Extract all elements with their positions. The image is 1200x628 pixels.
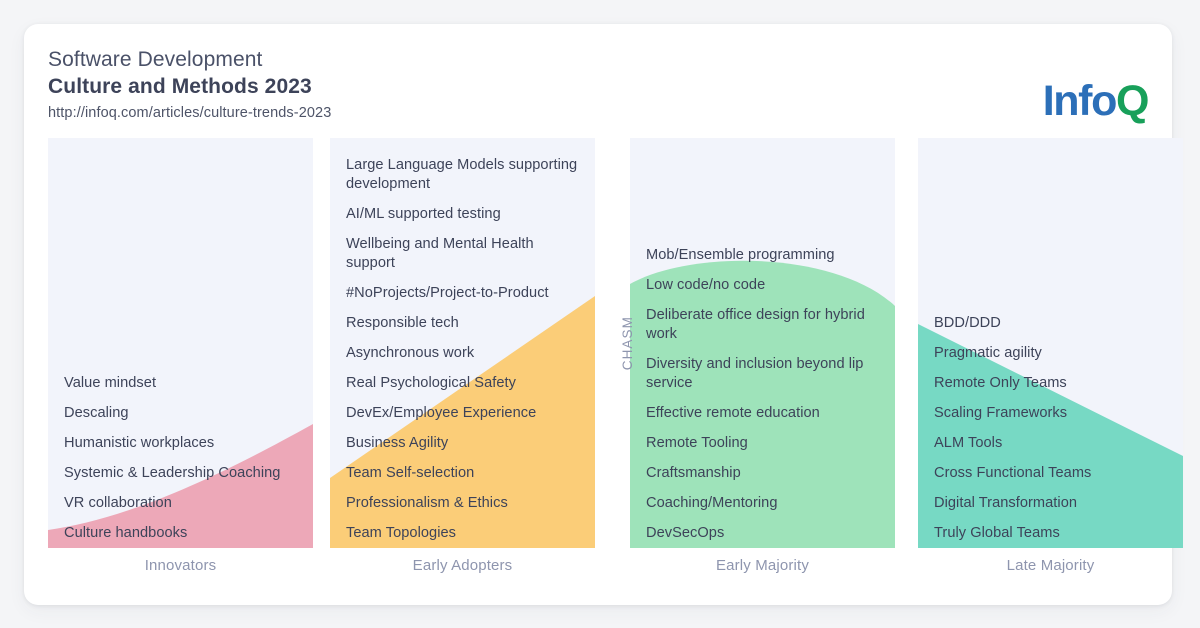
- list-item[interactable]: Humanistic workplaces: [64, 428, 297, 458]
- innovators-item-list: Value mindset Descaling Humanistic workp…: [48, 138, 313, 548]
- list-item[interactable]: Pragmatic agility: [934, 338, 1167, 368]
- axis-label-early-adopters: Early Adopters: [330, 557, 595, 574]
- list-item[interactable]: Real Psychological Safety: [346, 368, 579, 398]
- list-item[interactable]: Team Self-selection: [346, 458, 579, 488]
- axis-label-early-majority: Early Majority: [630, 557, 895, 574]
- page-title-line2: Culture and Methods 2023: [48, 75, 312, 99]
- list-item[interactable]: Value mindset: [64, 368, 297, 398]
- axis-label-late-majority: Late Majority: [918, 557, 1183, 574]
- list-item[interactable]: DevEx/Employee Experience: [346, 398, 579, 428]
- adoption-curve-infographic: Software Development Culture and Methods…: [0, 0, 1200, 628]
- list-item[interactable]: Culture handbooks: [64, 518, 297, 548]
- column-early-majority: Mob/Ensemble programming Low code/no cod…: [630, 138, 895, 548]
- list-item[interactable]: DevSecOps: [646, 518, 879, 548]
- list-item[interactable]: Asynchronous work: [346, 338, 579, 368]
- list-item[interactable]: Responsible tech: [346, 308, 579, 338]
- page-title-line1: Software Development: [48, 48, 262, 72]
- list-item[interactable]: Truly Global Teams: [934, 518, 1167, 548]
- panel-early-majority: Mob/Ensemble programming Low code/no cod…: [630, 138, 895, 548]
- list-item[interactable]: Professionalism & Ethics: [346, 488, 579, 518]
- column-early-adopters: Large Language Models supporting develop…: [330, 138, 595, 548]
- list-item[interactable]: Systemic & Leadership Coaching: [64, 458, 297, 488]
- panel-late-majority: BDD/DDD Pragmatic agility Remote Only Te…: [918, 138, 1183, 548]
- early-majority-item-list: Mob/Ensemble programming Low code/no cod…: [630, 138, 895, 548]
- list-item[interactable]: Craftsmanship: [646, 458, 879, 488]
- article-url-link[interactable]: http://infoq.com/articles/culture-trends…: [48, 105, 331, 121]
- list-item[interactable]: Diversity and inclusion beyond lip servi…: [646, 349, 879, 398]
- list-item[interactable]: Descaling: [64, 398, 297, 428]
- list-item[interactable]: Large Language Models supporting develop…: [346, 150, 579, 199]
- list-item[interactable]: #NoProjects/Project-to-Product: [346, 278, 579, 308]
- list-item[interactable]: Team Topologies: [346, 518, 579, 548]
- list-item[interactable]: AI/ML supported testing: [346, 199, 579, 229]
- list-item[interactable]: Deliberate office design for hybrid work: [646, 300, 879, 349]
- chasm-divider-label: CHASM: [616, 138, 638, 548]
- list-item[interactable]: Cross Functional Teams: [934, 458, 1167, 488]
- logo-q-text: Q: [1116, 77, 1148, 125]
- chasm-text: CHASM: [620, 316, 635, 370]
- column-innovators: Value mindset Descaling Humanistic workp…: [48, 138, 313, 548]
- list-item[interactable]: Wellbeing and Mental Health support: [346, 229, 579, 278]
- list-item[interactable]: Digital Transformation: [934, 488, 1167, 518]
- late-majority-item-list: BDD/DDD Pragmatic agility Remote Only Te…: [918, 138, 1183, 548]
- list-item[interactable]: Low code/no code: [646, 270, 879, 300]
- panel-early-adopters: Large Language Models supporting develop…: [330, 138, 595, 548]
- logo-info-text: Info: [1043, 77, 1116, 125]
- list-item[interactable]: Remote Only Teams: [934, 368, 1167, 398]
- panel-innovators: Value mindset Descaling Humanistic workp…: [48, 138, 313, 548]
- early-adopters-item-list: Large Language Models supporting develop…: [330, 138, 595, 548]
- axis-label-innovators: Innovators: [48, 557, 313, 574]
- list-item[interactable]: ALM Tools: [934, 428, 1167, 458]
- list-item[interactable]: Effective remote education: [646, 398, 879, 428]
- list-item[interactable]: Business Agility: [346, 428, 579, 458]
- list-item[interactable]: Coaching/Mentoring: [646, 488, 879, 518]
- list-item[interactable]: Scaling Frameworks: [934, 398, 1167, 428]
- column-late-majority: BDD/DDD Pragmatic agility Remote Only Te…: [918, 138, 1183, 548]
- content-card: Software Development Culture and Methods…: [24, 24, 1172, 605]
- list-item[interactable]: BDD/DDD: [934, 308, 1167, 338]
- adoption-columns: Value mindset Descaling Humanistic workp…: [24, 138, 1172, 605]
- list-item[interactable]: Mob/Ensemble programming: [646, 240, 879, 270]
- list-item[interactable]: VR collaboration: [64, 488, 297, 518]
- list-item[interactable]: Remote Tooling: [646, 428, 879, 458]
- infoq-logo: InfoQ: [1043, 80, 1148, 123]
- header: Software Development Culture and Methods…: [48, 48, 1148, 148]
